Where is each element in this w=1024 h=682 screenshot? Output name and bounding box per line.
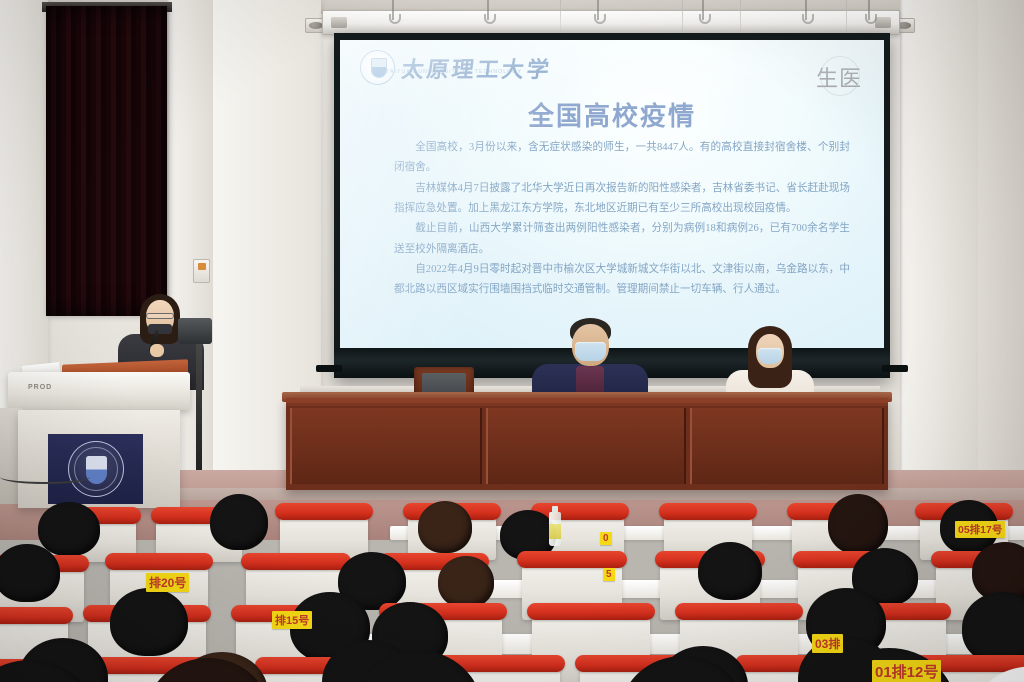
wall-pillar-right	[900, 0, 978, 500]
seal-ring-icon	[820, 56, 860, 96]
seat-number-label: 0	[600, 532, 612, 545]
staff-face-mask	[758, 348, 782, 364]
seat-number-label: 排20号	[146, 573, 189, 592]
slide-surface: 太原理工大学 TAIYUAN UNIVERSITY OF TECHNOLOGY …	[340, 40, 884, 348]
seat-top-trim	[659, 503, 757, 520]
slide-paragraph-4: 自2022年4月9日零时起对晋中市榆次区大学城新城文华街以北、文津街以南，乌金路…	[394, 260, 850, 301]
audience-area: 05排17号 01排12号 03排 排20号 排15号 0 5	[0, 470, 1024, 682]
ceiling-hook-1	[392, 0, 394, 20]
seat-top-trim	[675, 603, 803, 620]
wall-pillar-far-right	[978, 0, 1024, 500]
seat-top-trim	[0, 607, 73, 624]
seat-number-label: 03排	[812, 634, 843, 653]
speaker-glasses-icon	[146, 313, 174, 319]
audience-head	[0, 544, 60, 602]
seat-top-trim	[105, 553, 213, 570]
slide-paragraph-2: 吉林媒体4月7日披露了北华大学近日再次报告新的阳性感染者，吉林省委书记、省长赶赴…	[394, 179, 850, 220]
housing-cap-left	[331, 17, 347, 28]
seat-top-trim	[517, 551, 627, 568]
slide-university-logo: 太原理工大学	[360, 50, 552, 85]
slide-title: 全国高校疫情	[340, 96, 884, 133]
audience-head	[110, 588, 188, 656]
seat-top-trim	[275, 503, 373, 520]
slide-paragraph-1: 全国高校，3月份以来，含无症状感染的师生，一共8447人。有的高校直接封宿舍楼、…	[394, 138, 850, 179]
seat-number-label: 05排17号	[955, 521, 1005, 538]
slide-logo-en: TAIYUAN UNIVERSITY OF TECHNOLOGY	[386, 69, 522, 75]
slide-paragraph-3: 截止目前，山西大学累计筛查出两例阳性感染者，分别为病例18和病例26，已有700…	[394, 219, 850, 260]
audience-head	[38, 502, 100, 556]
seat-number-label: 5	[603, 568, 615, 581]
audience-head	[418, 501, 472, 553]
stage-curtain	[46, 6, 167, 316]
seat-number-label: 01排12号	[872, 660, 941, 682]
wall-seam-b	[900, 0, 903, 500]
lecture-hall-photo: 太原理工大学 TAIYUAN UNIVERSITY OF TECHNOLOGY …	[0, 0, 1024, 682]
seat-top-trim	[241, 553, 351, 570]
audience-head	[698, 542, 762, 600]
screen-weight-left	[316, 365, 342, 372]
ceiling-hook-2	[487, 0, 489, 20]
floor-speaker	[178, 318, 212, 344]
water-bottle[interactable]	[549, 512, 561, 546]
ceiling-hook-5	[805, 0, 807, 20]
wall-switch-box[interactable]	[193, 259, 210, 283]
switch-knob[interactable]	[198, 263, 206, 270]
ceiling-hook-6	[868, 0, 870, 20]
bottle-label	[549, 524, 561, 539]
seat-top-trim	[527, 603, 655, 620]
slide-logo-cn: 太原理工大学	[400, 52, 554, 84]
official-face-mask	[575, 342, 606, 361]
slide-body: 全国高校，3月份以来，含无症状感染的师生，一共8447人。有的高校直接封宿舍楼、…	[394, 138, 850, 301]
podium-brand-text: PROD	[28, 384, 52, 391]
seat-number-label: 排15号	[272, 611, 312, 629]
speaker-stand-pole	[196, 330, 202, 470]
housing-cap-right	[875, 17, 891, 28]
audience-head	[828, 494, 888, 554]
speaker-mask-down	[148, 324, 172, 334]
ceiling-hook-4	[702, 0, 704, 20]
audience-head	[210, 494, 268, 550]
screen-weight-right	[882, 365, 908, 372]
mic-hand	[150, 344, 164, 357]
university-emblem-icon	[360, 50, 395, 85]
podium-top: PROD	[8, 372, 190, 410]
ceiling-hook-3	[597, 0, 599, 20]
audience-head-with-ponytail	[438, 556, 494, 608]
